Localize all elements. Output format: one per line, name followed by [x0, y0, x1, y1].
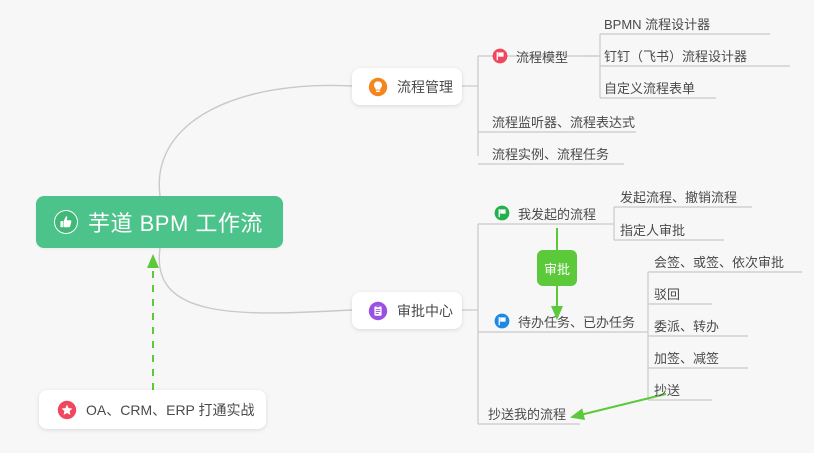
node-label: 驳回 [654, 284, 680, 303]
node-my-initiated[interactable]: 我发起的流程 [494, 202, 596, 224]
node-assigned-approval[interactable]: 指定人审批 [620, 218, 685, 240]
node-label: 待办任务、已办任务 [518, 312, 635, 331]
node-add-remove-sign[interactable]: 加签、减签 [654, 346, 719, 368]
callout-label: OA、CRM、ERP 打通实战 [86, 400, 255, 420]
node-dingtalk-designer[interactable]: 钉钉（飞书）流程设计器 [604, 44, 747, 66]
node-todo-tasks[interactable]: 待办任务、已办任务 [494, 310, 635, 332]
root-label: 芋道 BPM 工作流 [88, 206, 263, 238]
branch-node-label: 审批中心 [397, 301, 453, 321]
node-label: 自定义流程表单 [604, 78, 695, 97]
flag-icon [494, 313, 510, 329]
branch-node-label: 流程管理 [397, 77, 453, 97]
callout-card[interactable]: OA、CRM、ERP 打通实战 [39, 390, 266, 429]
node-label: 流程监听器、流程表达式 [492, 112, 635, 131]
clipboard-icon [368, 301, 388, 321]
node-bpmn-designer[interactable]: BPMN 流程设计器 [604, 12, 710, 34]
node-delegate-transfer[interactable]: 委派、转办 [654, 314, 719, 336]
node-label: 钉钉（飞书）流程设计器 [604, 46, 747, 65]
node-label: BPMN 流程设计器 [604, 14, 710, 33]
node-label: 会签、或签、依次审批 [654, 252, 784, 271]
node-process-listener[interactable]: 流程监听器、流程表达式 [492, 110, 635, 132]
node-countersign[interactable]: 会签、或签、依次审批 [654, 250, 784, 272]
node-custom-form[interactable]: 自定义流程表单 [604, 76, 695, 98]
node-process-model[interactable]: 流程模型 [492, 45, 568, 67]
node-label: 发起流程、撤销流程 [620, 187, 737, 206]
node-carbon-copy[interactable]: 抄送 [654, 378, 680, 400]
node-label: 委派、转办 [654, 316, 719, 335]
approval-chip[interactable]: 审批 [537, 250, 577, 286]
node-label: 指定人审批 [620, 220, 685, 239]
node-cc-to-me[interactable]: 抄送我的流程 [488, 402, 566, 424]
node-label: 加签、减签 [654, 348, 719, 367]
node-label: 抄送我的流程 [488, 404, 566, 423]
node-label: 我发起的流程 [518, 204, 596, 223]
branch-node-process-management[interactable]: 流程管理 [352, 68, 462, 105]
node-start-cancel-process[interactable]: 发起流程、撤销流程 [620, 185, 737, 207]
root-node[interactable]: 芋道 BPM 工作流 [36, 196, 283, 248]
lightbulb-icon [368, 77, 388, 97]
thumbs-up-icon [54, 210, 78, 234]
node-process-instance[interactable]: 流程实例、流程任务 [492, 142, 609, 164]
node-label: 流程实例、流程任务 [492, 144, 609, 163]
flag-icon [494, 205, 510, 221]
flag-icon [492, 48, 508, 64]
mindmap-canvas: 芋道 BPM 工作流 流程管理 审批中心 [0, 0, 814, 453]
branch-node-approval-center[interactable]: 审批中心 [352, 292, 462, 329]
star-icon [57, 400, 77, 420]
node-label: 流程模型 [516, 47, 568, 66]
node-label: 抄送 [654, 380, 680, 399]
approval-chip-label: 审批 [544, 259, 570, 278]
node-reject[interactable]: 驳回 [654, 282, 680, 304]
